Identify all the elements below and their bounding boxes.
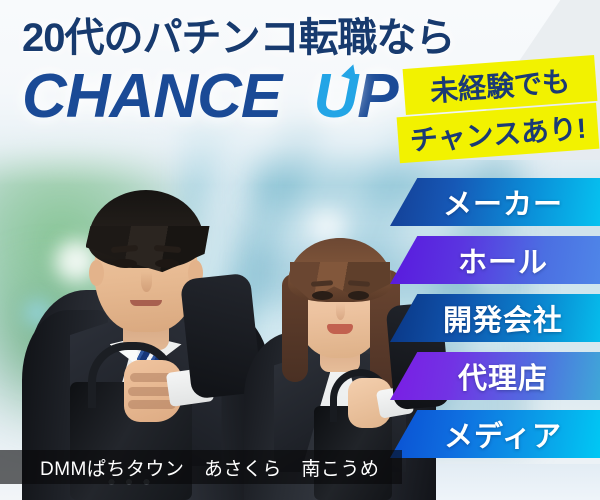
logo-letter-p: P [357, 62, 397, 131]
businessman-nose [141, 272, 152, 292]
category-button-hall[interactable]: ホール [390, 236, 600, 284]
banner-ad[interactable]: 20代のパチンコ転職なら CHANCE UP 未経験でも チャンスあり! メーカ… [0, 0, 600, 500]
ad-headline-text: 20代のパチンコ転職なら [22, 16, 455, 60]
category-button-hall-label: ホール [390, 239, 600, 281]
businessman-figure [28, 145, 263, 500]
badge-no-experience-label: 未経験でも [429, 60, 572, 110]
category-button-maker[interactable]: メーカー [390, 178, 600, 226]
businessman-mouth [130, 300, 162, 306]
businesswoman-eye-right [348, 291, 369, 300]
category-button-media[interactable]: メディア [390, 410, 600, 458]
category-button-development-company-label: 開発会社 [390, 297, 600, 339]
people-photo-group [0, 140, 420, 500]
businessman-ear-left [89, 260, 104, 286]
credit-text: DMMぱちタウン あさくら 南こうめ [40, 454, 379, 481]
logo-word-up: UP [313, 62, 397, 131]
category-button-list: メーカー ホール 開発会社 代理店 メディア [390, 178, 600, 468]
businesswoman-nose [336, 303, 345, 320]
category-button-agency-label: 代理店 [390, 355, 600, 397]
businessman-eye-right [155, 259, 179, 268]
credit-bar: DMMぱちタウン あさくら 南こうめ [0, 450, 402, 484]
logo-letter-u-arrow-icon: U [313, 66, 357, 128]
category-button-development-company[interactable]: 開発会社 [390, 294, 600, 342]
category-button-agency[interactable]: 代理店 [390, 352, 600, 400]
category-button-media-label: メディア [390, 413, 600, 455]
category-button-maker-label: メーカー [390, 181, 600, 223]
logo-word-chance: CHANCE [22, 62, 281, 131]
businesswoman-eye-left [312, 291, 333, 300]
businessman-finger [128, 400, 176, 409]
businessman-eye-left [113, 259, 137, 268]
businesswoman-mouth [327, 324, 353, 334]
chance-up-logo: CHANCE UP [22, 66, 398, 128]
ad-headline: 20代のパチンコ転職なら [22, 18, 455, 58]
